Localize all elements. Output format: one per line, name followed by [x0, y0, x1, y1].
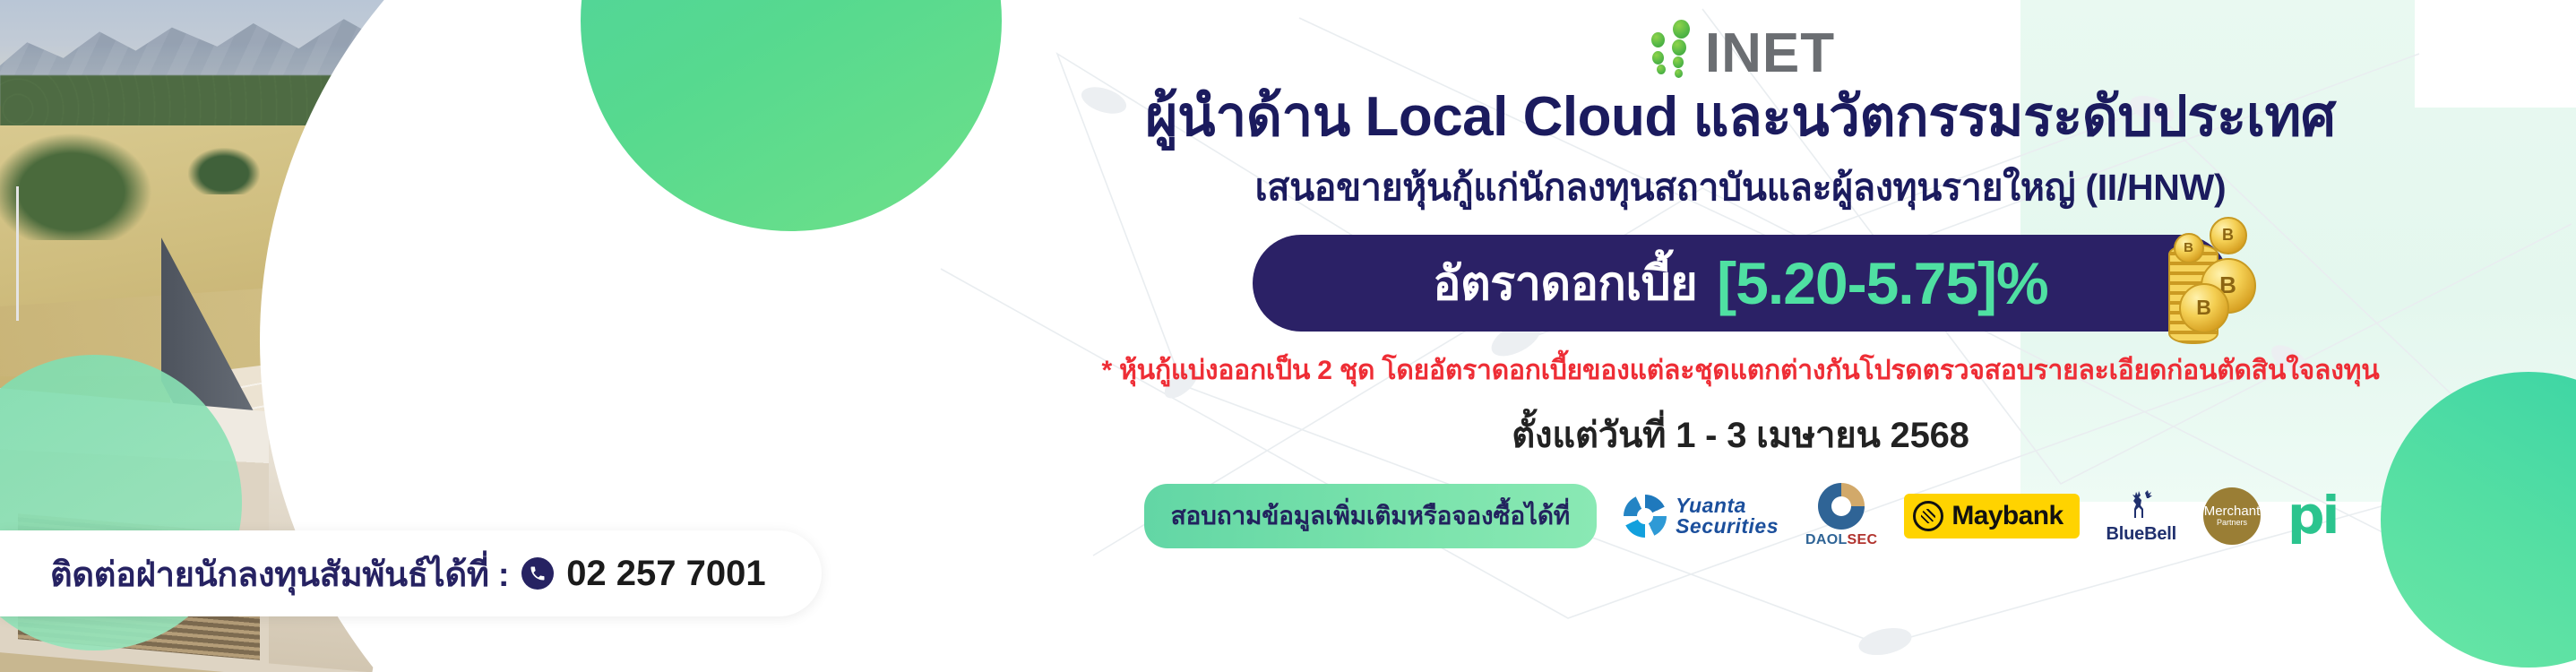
content-column: INET ผู้นำด้าน Local Cloud และนวัตกรรมระ…	[905, 0, 2576, 672]
partner-logo-merchant-partners[interactable]: Merchant Partners	[2203, 483, 2261, 549]
offering-period: ตั้งแต่วันที่ 1 - 3 เมษายน 2568	[1512, 406, 1969, 463]
partner-logo-yuanta[interactable]: Yuanta Securities	[1624, 483, 1779, 549]
inet-logo: INET	[1646, 13, 1835, 79]
partner-logo-bluebell[interactable]: BlueBell	[2106, 483, 2176, 549]
interest-rate-label: อัตราดอกเบี้ย	[1433, 246, 1697, 320]
pi-logo-icon: pi	[2287, 497, 2337, 535]
daol-line1: DAOL	[1805, 532, 1848, 547]
inet-dots-icon	[1646, 13, 1702, 79]
partner-logo-daol[interactable]: DAOLSEC	[1805, 483, 1877, 549]
gold-coin-stack-icon: B B B B	[2158, 206, 2276, 348]
merchant-line2: Partners	[2217, 519, 2247, 527]
bluebell-label: BlueBell	[2106, 524, 2176, 545]
daol-circle-icon	[1818, 483, 1865, 530]
partner-logo-maybank[interactable]: Maybank	[1904, 483, 2079, 549]
maybank-label: Maybank	[1951, 501, 2063, 531]
partner-strip: สอบถามข้อมูลเพิ่มเติมหรือจองซื้อได้ที่ Y…	[1144, 483, 2338, 549]
interest-rate-value: [5.20-5.75]%	[1717, 249, 2048, 317]
contact-phone-number: 02 257 7001	[566, 554, 765, 594]
merchant-line1: Merchant	[2204, 504, 2261, 519]
yuanta-star-icon	[1624, 495, 1667, 538]
page-title: ผู้นำด้าน Local Cloud และนวัตกรรมระดับปร…	[1145, 88, 2336, 148]
contact-label: ติดต่อฝ่ายนักลงทุนสัมพันธ์ได้ที่ :	[50, 547, 509, 601]
cta-subscribe-button[interactable]: สอบถามข้อมูลเพิ่มเติมหรือจองซื้อได้ที่	[1144, 484, 1597, 548]
disclaimer-note: * หุ้นกู้แบ่งออกเป็น 2 ชุด โดยอัตราดอกเบ…	[1101, 349, 2379, 392]
partner-logo-pi[interactable]: pi	[2287, 483, 2337, 549]
maybank-tiger-icon	[1913, 501, 1943, 531]
yuanta-line1: Yuanta	[1676, 495, 1779, 516]
merchant-partners-icon: Merchant Partners	[2203, 487, 2261, 545]
yuanta-line2: Securities	[1676, 516, 1779, 537]
inet-logo-text: INET	[1705, 28, 1835, 79]
daol-line2: SEC	[1848, 532, 1878, 547]
phone-icon	[521, 557, 554, 590]
promo-banner: INET ผู้นำด้าน Local Cloud และนวัตกรรมระ…	[0, 0, 2576, 672]
investor-relations-contact[interactable]: ติดต่อฝ่ายนักลงทุนสัมพันธ์ได้ที่ : 02 25…	[0, 530, 822, 616]
bluebell-deer-icon	[2124, 487, 2159, 523]
page-subtitle: เสนอขายหุ้นกู้แก่นักลงทุนสถาบันและผู้ลงท…	[1255, 159, 2227, 217]
interest-rate-box: อัตราดอกเบี้ย [5.20-5.75]% B B B B	[1253, 235, 2229, 332]
